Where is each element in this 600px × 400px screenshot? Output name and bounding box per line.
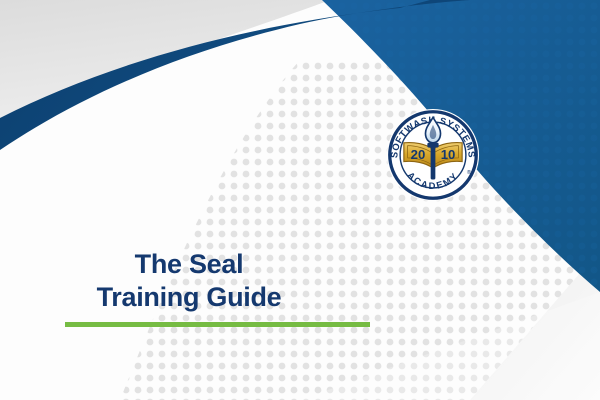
slide-background (0, 0, 600, 400)
slide-title: The Seal Training Guide (0, 248, 378, 314)
softwash-systems-academy-seal-logo: SOFTWASH SYSTEMS ACADEMY 20 10 ® (386, 108, 480, 202)
seal-year-right: 10 (441, 147, 456, 162)
title-accent-rule (65, 322, 370, 327)
title-line-1: The Seal (0, 248, 378, 281)
seal-year-left: 20 (411, 147, 426, 162)
title-line-2: Training Guide (0, 281, 378, 314)
title-slide: SOFTWASH SYSTEMS ACADEMY 20 10 ® The Sea… (0, 0, 600, 400)
